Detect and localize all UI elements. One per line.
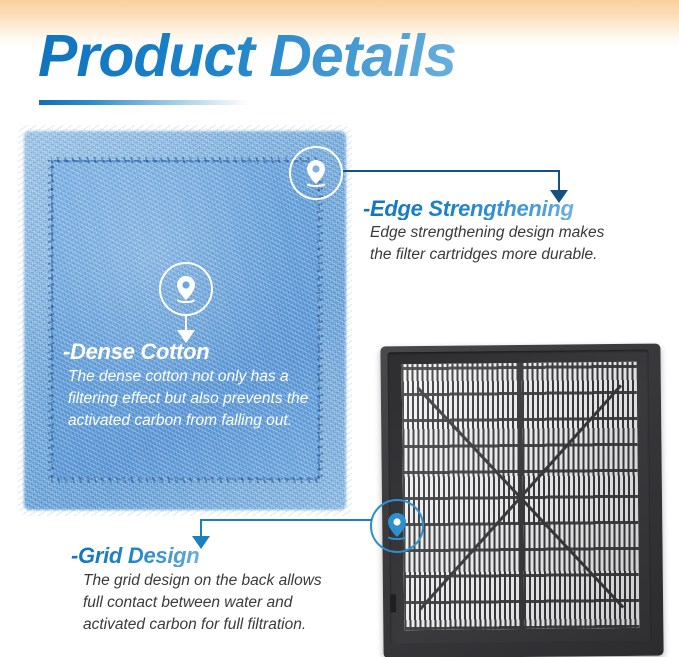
callout-body-line: activated carbon from falling out. bbox=[68, 410, 308, 432]
callout-body-line: The grid design on the back allows bbox=[83, 570, 322, 592]
callout-body-grid-design: The grid design on the back allows full … bbox=[83, 570, 322, 636]
connector-line-edge-h bbox=[343, 170, 560, 172]
callout-body-line: the filter cartridges more durable. bbox=[370, 244, 604, 266]
connector-line-grid-h bbox=[200, 519, 372, 521]
marker-pin-grid-design[interactable] bbox=[370, 499, 424, 553]
callout-heading-dense-cotton: -Dense Cotton bbox=[63, 341, 209, 363]
grid-filter-face bbox=[402, 362, 640, 630]
product-details-infographic: Product Details bbox=[0, 0, 679, 657]
callout-body-dense-cotton: The dense cotton not only has a filterin… bbox=[68, 366, 308, 432]
callout-body-line: Edge strengthening design makes bbox=[370, 222, 604, 244]
marker-pin-dense-cotton[interactable] bbox=[159, 262, 213, 316]
page-title: Product Details bbox=[38, 27, 456, 86]
callout-body-line: The dense cotton not only has a bbox=[68, 366, 308, 388]
location-pin-icon bbox=[291, 148, 341, 198]
grid-filter-image bbox=[370, 338, 673, 657]
grid-filter-side-tab bbox=[390, 594, 396, 612]
location-pin-icon bbox=[161, 264, 211, 314]
callout-heading-edge-strengthening: -Edge Strengthening bbox=[363, 198, 574, 220]
location-pin-icon bbox=[372, 501, 422, 551]
callout-body-line: full contact between water and bbox=[83, 592, 322, 614]
marker-pin-edge-strengthening[interactable] bbox=[289, 146, 343, 200]
grid-filter-frame bbox=[380, 344, 663, 657]
callout-body-line: activated carbon for full filtration. bbox=[83, 614, 322, 636]
callout-body-edge-strengthening: Edge strengthening design makes the filt… bbox=[370, 222, 604, 266]
title-underline-rule bbox=[39, 100, 249, 105]
callout-body-line: filtering effect but also prevents the bbox=[68, 388, 308, 410]
callout-heading-grid-design: -Grid Design bbox=[71, 545, 199, 567]
